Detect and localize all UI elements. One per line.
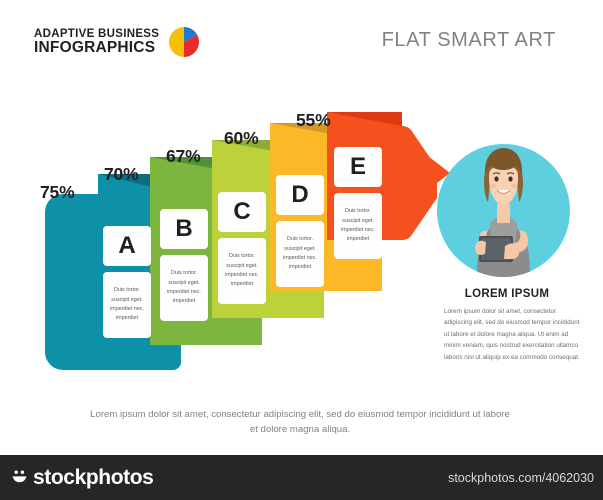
step-body-e: Duis tortor.suscipit eget.imperdiet nec.… [334,193,382,259]
percent-label-c: 67% [166,146,200,167]
step-body-text-c: Duis tortor.suscipit eget.imperdiet nec.… [225,252,259,289]
percent-label-d: 60% [224,128,258,149]
step-body-text-d: Duis tortor.suscipit eget.imperdiet nec.… [283,235,317,272]
step-body-text-a: Duis tortor.suscipit eget.imperdiet nec.… [110,286,144,323]
step-body-text-e: Duis tortor.suscipit eget.imperdiet nec.… [341,207,375,244]
footer-logo[interactable]: stockphotos [11,466,153,490]
footer-url: stockphotos.com/4062030 [448,471,594,485]
step-letter-a: A [118,232,135,260]
step-letter-d: D [291,181,308,209]
step-letter-b: B [175,215,192,243]
footer-brand-text: stockphotos [33,466,153,490]
step-body-a: Duis tortor.suscipit eget.imperdiet nec.… [103,272,151,338]
step-card-b[interactable]: B [160,209,208,249]
step-body-d: Duis tortor.suscipit eget.imperdiet nec.… [276,221,324,287]
step-card-c[interactable]: C [218,192,266,232]
infographic-slide: ADAPTIVE BUSINESS INFOGRAPHICS FLAT SMAR… [0,0,603,500]
step-body-c: Duis tortor.suscipit eget.imperdiet nec.… [218,238,266,304]
step-letter-e: E [350,153,366,181]
step-card-e[interactable]: E [334,147,382,187]
step-body-text-b: Duis tortor.suscipit eget.imperdiet nec.… [167,269,201,306]
person-body-text: Lorem ipsum dolor sit amet, consectetur … [444,306,581,363]
step-card-a[interactable]: A [103,226,151,266]
percent-label-b: 70% [104,164,138,185]
person-title: LOREM IPSUM [437,288,577,300]
woman-with-tablet-avatar [437,144,570,277]
percent-label-a: 75% [40,182,74,203]
step-letter-c: C [233,198,250,226]
step-body-b: Duis tortor.suscipit eget.imperdiet nec.… [160,255,208,321]
smile-dot-icon [11,469,28,486]
step-card-d[interactable]: D [276,175,324,215]
slide-caption: Lorem ipsum dolor sit amet, consectetur … [90,408,510,438]
footer-bar: stockphotos stockphotos.com/4062030 [0,455,603,500]
percent-label-e: 55% [296,110,330,131]
